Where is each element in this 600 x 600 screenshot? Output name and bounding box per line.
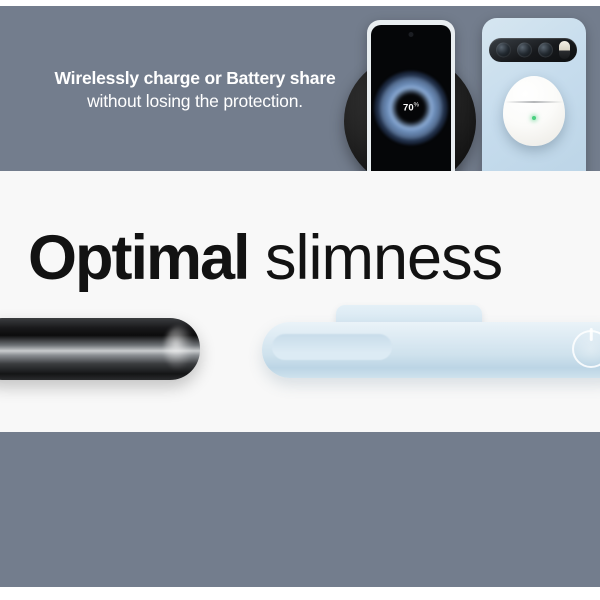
wireless-charging-panel: 70% Wirelessly charge or Battery share w…: [0, 6, 600, 171]
headline-line-1: Wirelessly charge or Battery share: [30, 67, 360, 90]
bottom-white-strip: [0, 587, 600, 600]
headline-light-text: slimness: [265, 223, 502, 293]
black-phone-edge-profile: [0, 318, 200, 380]
blue-case-edge-profile: [262, 322, 600, 378]
camera-lens-icon: [517, 43, 532, 58]
phone-screen: 70%: [371, 25, 451, 171]
battery-percentage: 70%: [403, 102, 419, 113]
pixel-8-pro-front-device: 70%: [367, 20, 455, 171]
camera-bar: [489, 38, 577, 62]
front-camera-icon: [409, 32, 414, 37]
battery-percentage-unit: %: [414, 102, 419, 108]
charging-led-indicator: [532, 116, 536, 120]
wireless-charging-headline: Wirelessly charge or Battery share witho…: [30, 67, 360, 113]
pixel-buds-case-icon: [503, 76, 565, 146]
slimness-panel: [0, 171, 600, 432]
headline-word-light: slimness: [249, 223, 503, 293]
camera-lens-icon: [538, 43, 553, 58]
camera-lens-icon: [496, 43, 511, 58]
buds-case-seam: [505, 101, 563, 103]
headline-line-2: without losing the protection.: [30, 90, 360, 113]
headline-word-bold: Optimal: [28, 223, 249, 293]
pixel-8-pro-case-back-device: [482, 18, 586, 171]
added-depth-panel: Just the right amount of added depth for…: [0, 432, 600, 587]
slimness-headline: Optimal slimness: [28, 227, 600, 290]
battery-percentage-value: 70: [403, 102, 414, 113]
flash-sensor-icon: [559, 41, 570, 59]
product-feature-image: 70% Wirelessly charge or Battery share w…: [0, 0, 600, 600]
case-inner-lip: [272, 334, 392, 360]
